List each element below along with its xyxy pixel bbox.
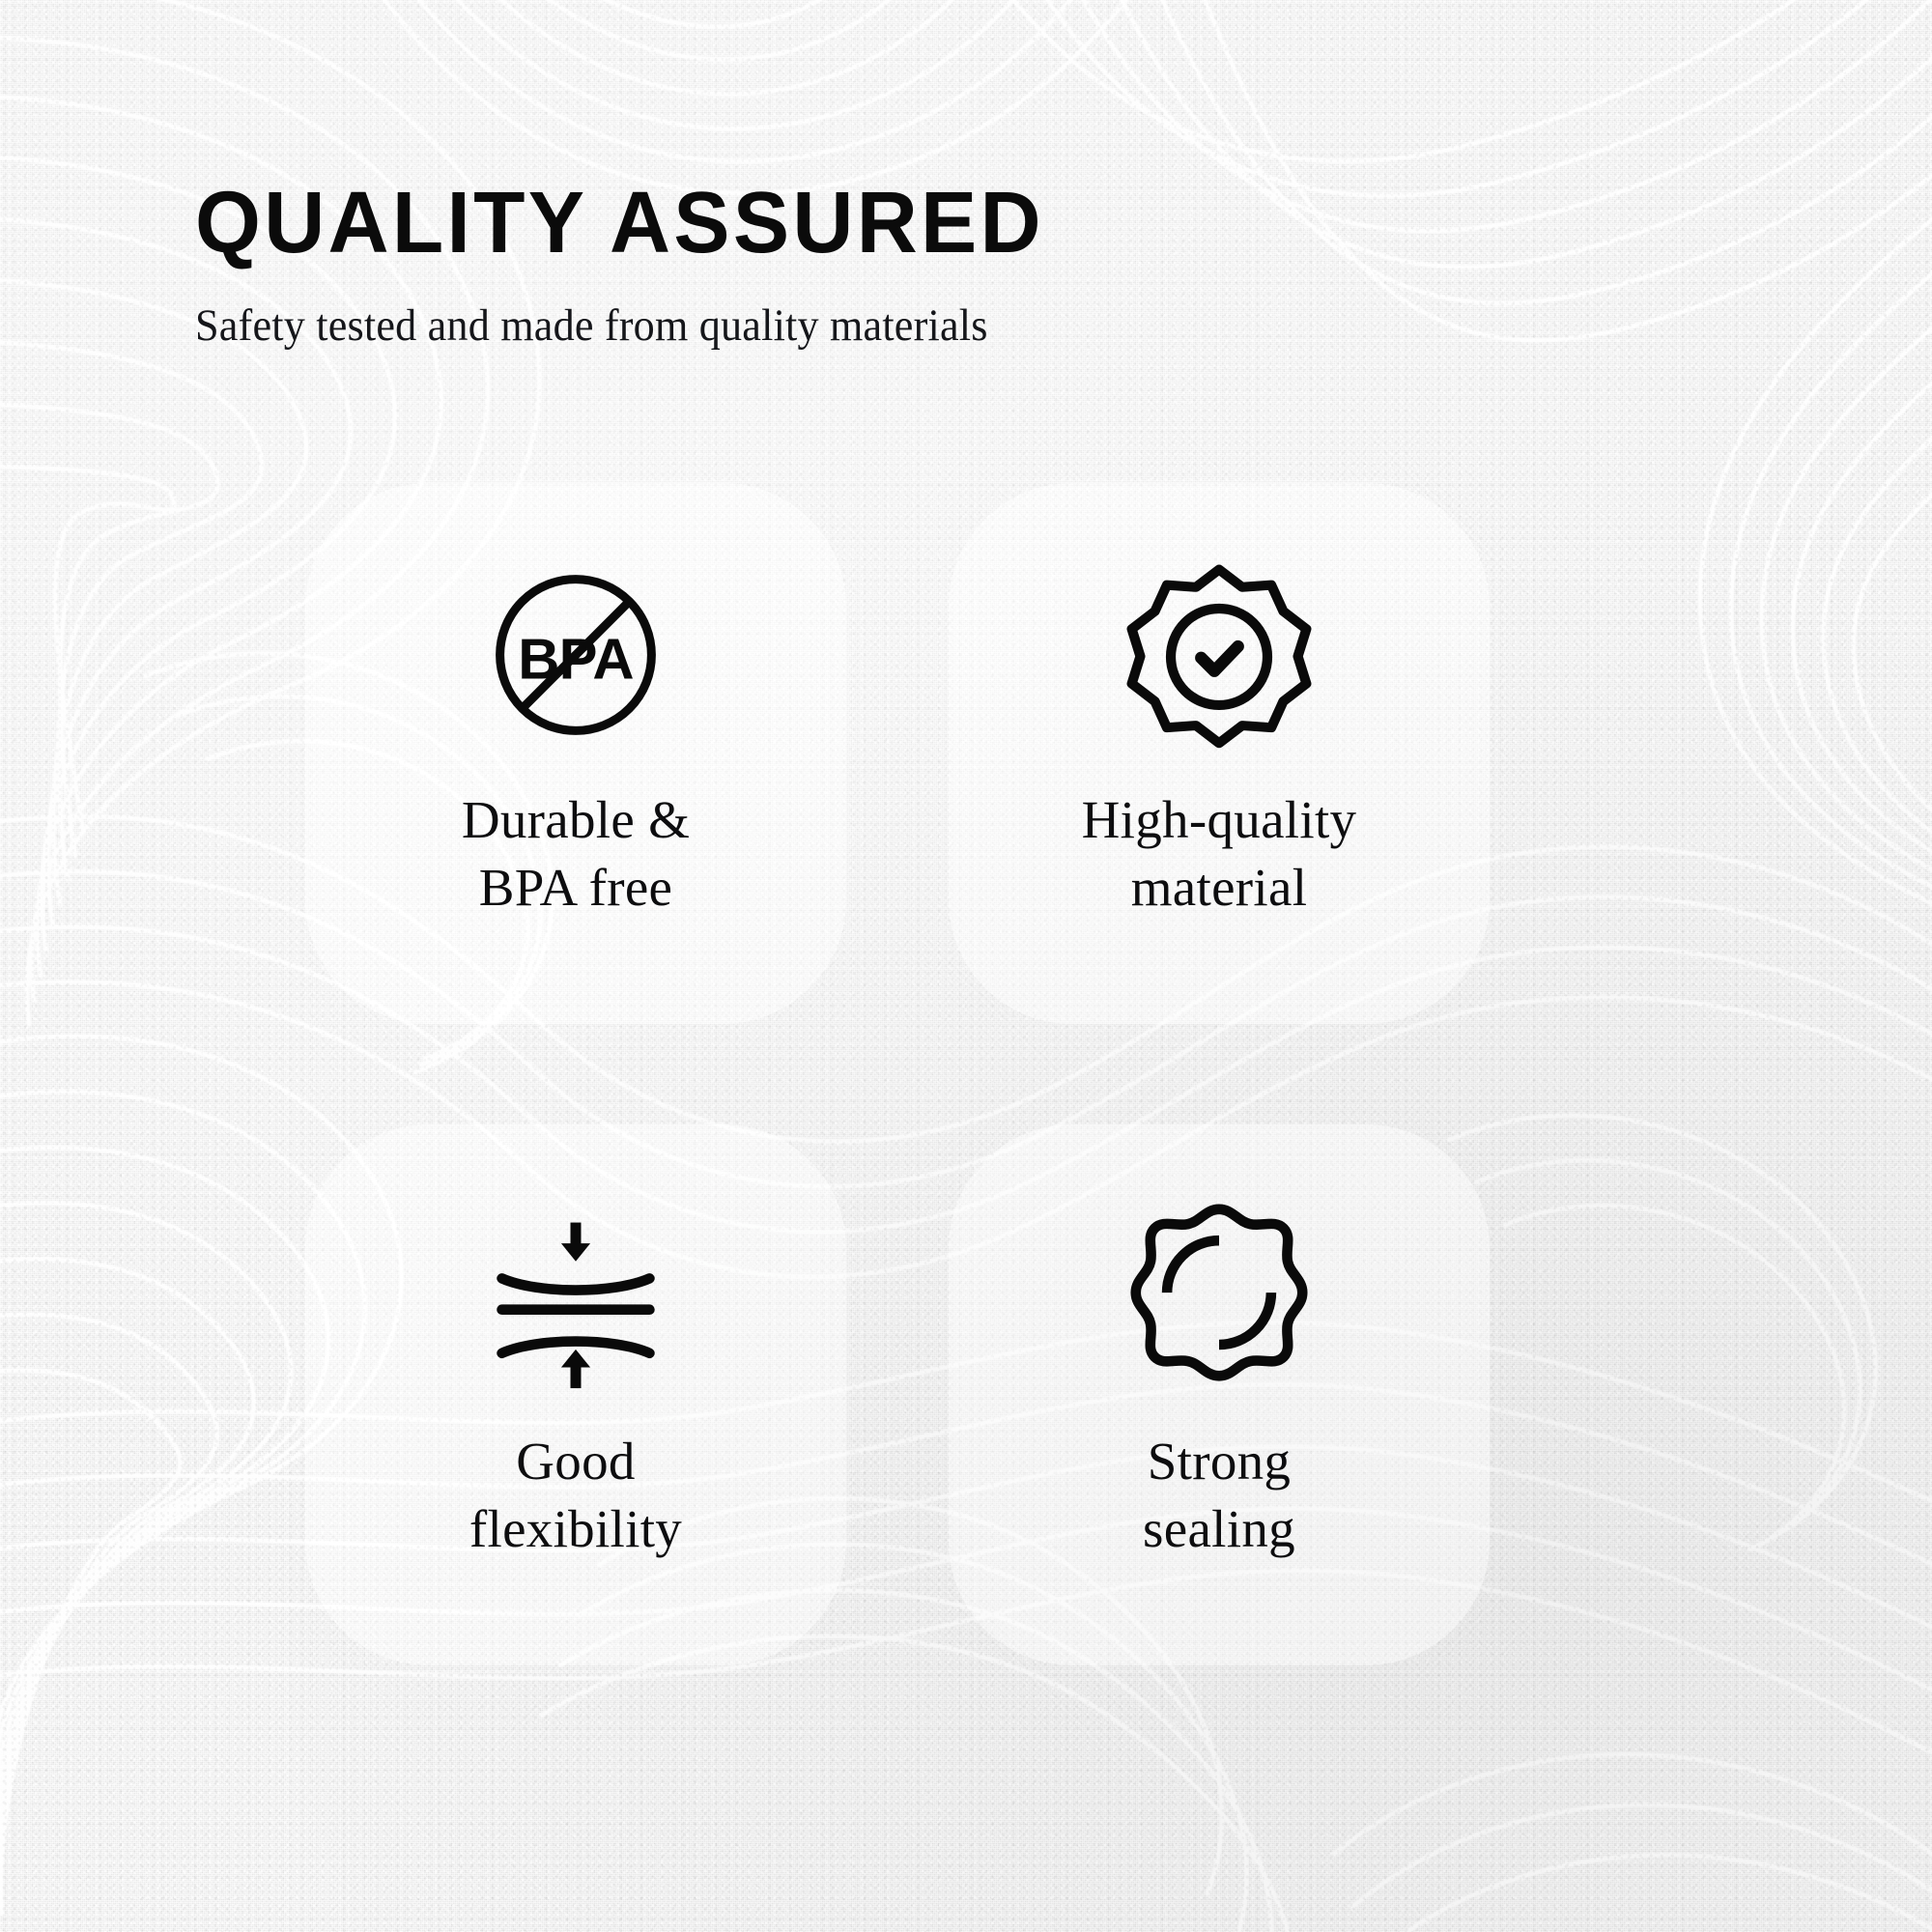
page-title: QUALITY ASSURED	[195, 180, 1413, 267]
poster-canvas: QUALITY ASSURED Safety tested and made f…	[0, 0, 1932, 1932]
feature-card-label: High-quality material	[1082, 786, 1357, 923]
flexibility-icon	[479, 1200, 672, 1393]
feature-card-label: Good flexibility	[469, 1428, 682, 1564]
feature-card-label: Strong sealing	[1143, 1428, 1295, 1564]
page-subtitle: Safety tested and made from quality mate…	[195, 299, 1376, 352]
feature-card-grid: BPA Durable & BPA free High-quality mate…	[305, 483, 1658, 1671]
feature-card-durable-bpa-free[interactable]: BPA Durable & BPA free	[305, 483, 846, 1024]
feature-card-strong-sealing[interactable]: Strong sealing	[949, 1124, 1490, 1665]
feature-card-high-quality-material[interactable]: High-quality material	[949, 483, 1490, 1024]
feature-card-label: Durable & BPA free	[462, 786, 690, 923]
seal-icon	[1122, 1200, 1316, 1393]
bpa-free-icon: BPA	[479, 558, 672, 752]
feature-card-good-flexibility[interactable]: Good flexibility	[305, 1124, 846, 1665]
verified-badge-icon	[1122, 558, 1316, 752]
svg-text:BPA: BPA	[518, 627, 633, 692]
header-block: QUALITY ASSURED Safety tested and made f…	[195, 180, 1451, 352]
